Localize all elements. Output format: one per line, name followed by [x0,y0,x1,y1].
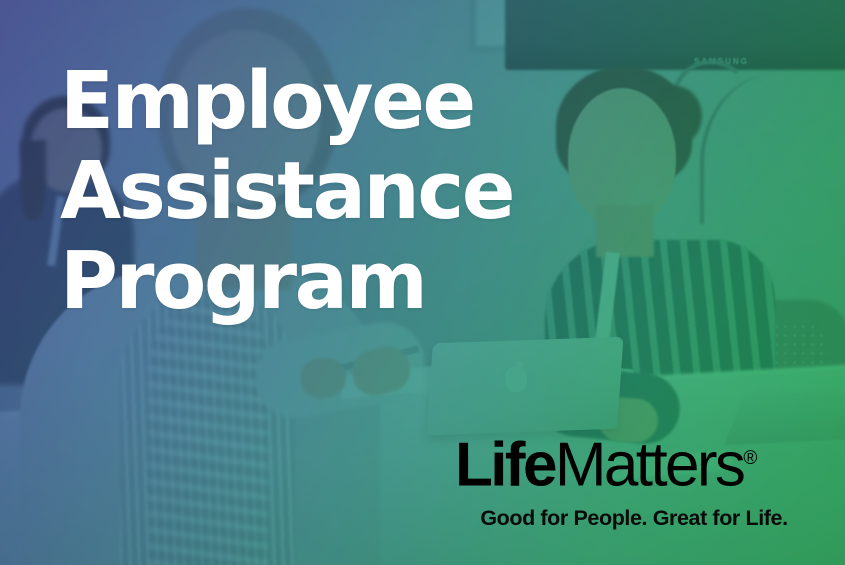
headline-line-3: Program [60,236,513,326]
registered-trademark-icon: ® [743,448,757,469]
headline-line-1: Employee [60,56,513,146]
lifematters-logo: LifeMatters® Good for People. Great for … [455,428,813,531]
page-title: Employee Assistance Program [60,56,513,326]
logo-tagline: Good for People. Great for Life. [455,506,813,531]
headline-line-2: Assistance [60,146,513,236]
logo-wordmark: LifeMatters® [455,428,813,497]
eap-marketing-banner: SAMSUNG [0,0,845,565]
logo-life-text: Life [455,431,555,500]
logo-matters-text: Matters [555,431,744,500]
